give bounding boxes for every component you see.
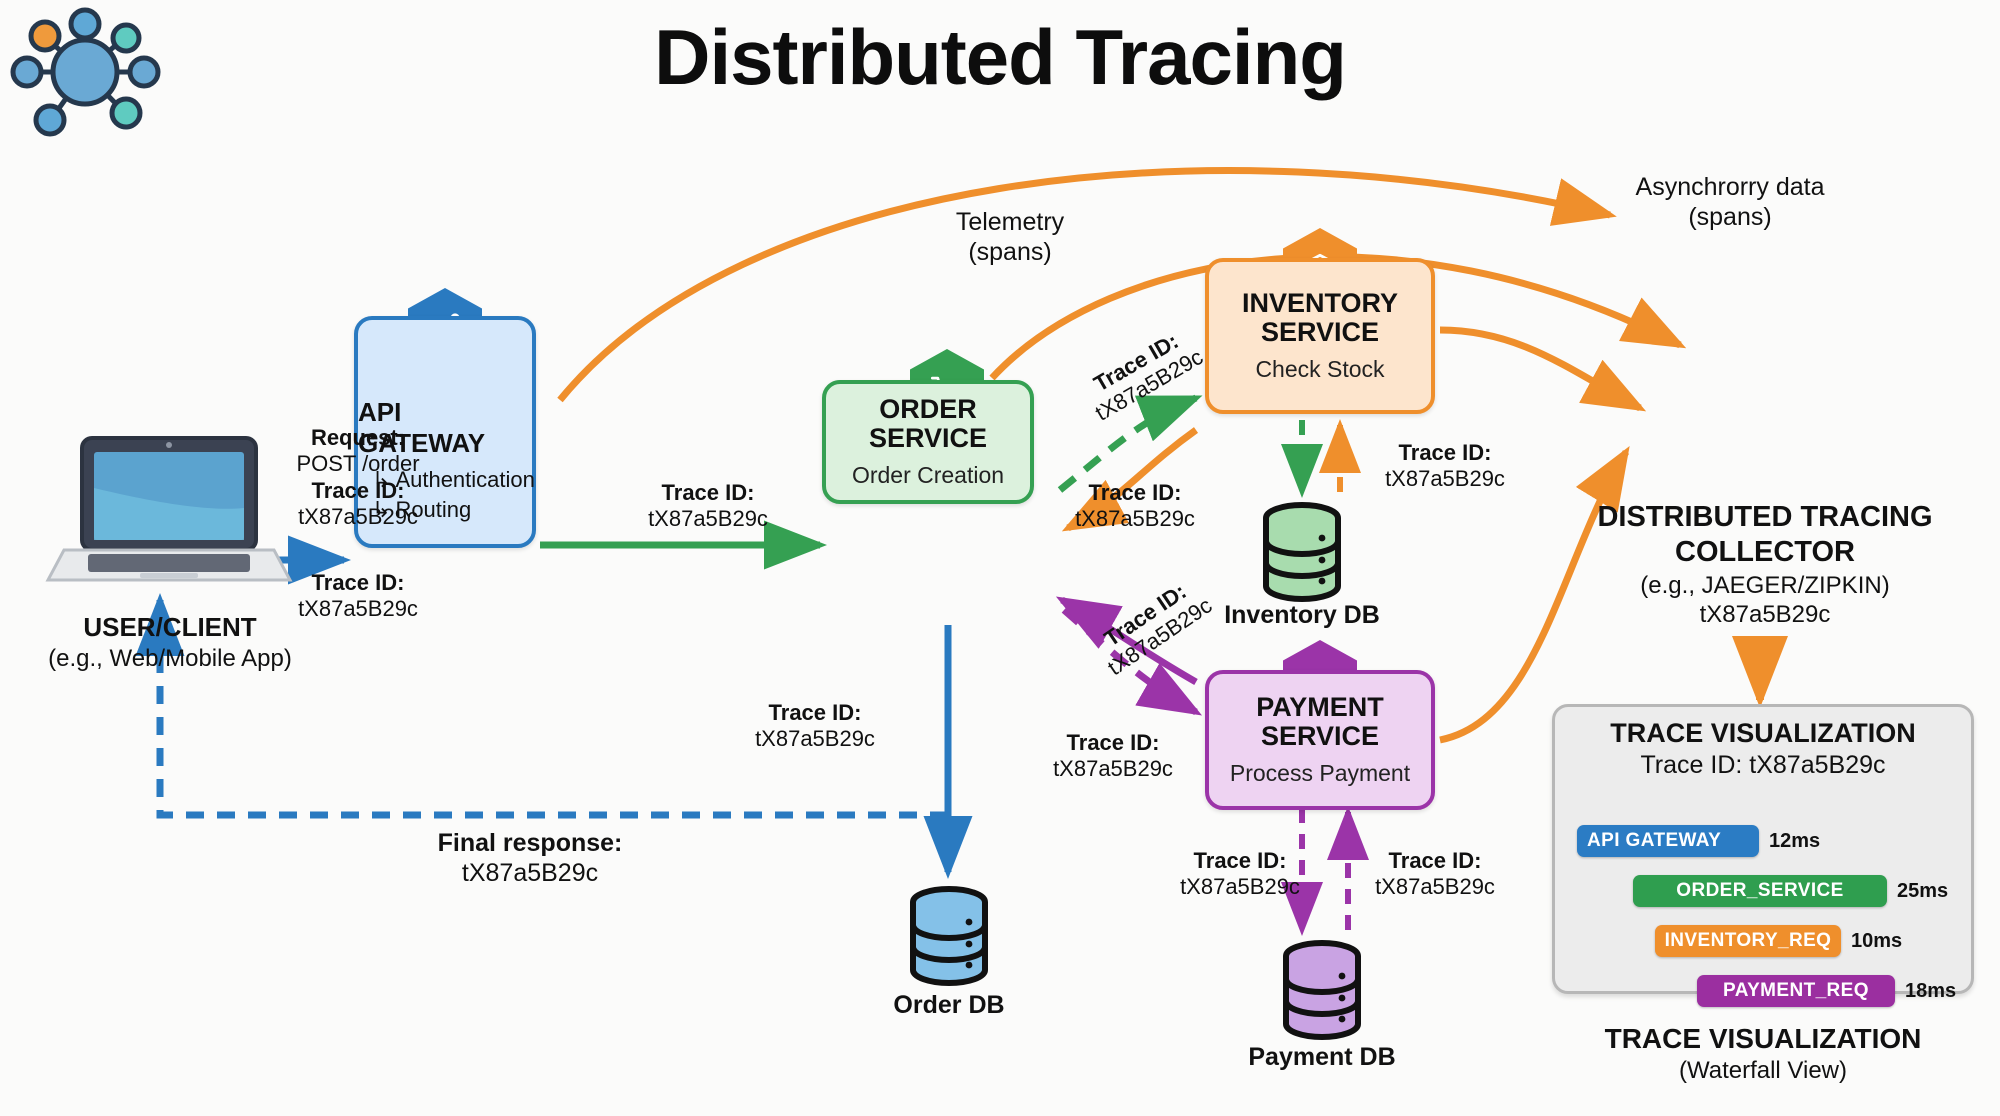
order-db-label: Order DB bbox=[849, 990, 1049, 1021]
label-gto-l1: Trace ID: bbox=[618, 480, 798, 506]
label-ito-l1: Trace ID: bbox=[1040, 480, 1230, 506]
span-duration-payment-req: 18ms bbox=[1905, 980, 1956, 1003]
edge-inventory-telemetry bbox=[1440, 330, 1640, 408]
label-pdbi-l2: tX87a5B29c bbox=[1345, 874, 1525, 900]
label-pdbo-l1: Trace ID: bbox=[1150, 848, 1330, 874]
span-row-api-gateway[interactable]: API GATEWAY 12ms bbox=[1577, 825, 1820, 857]
label-order-to-inventory-trace: Trace ID: tX87a5B29c bbox=[1056, 309, 1230, 440]
payment-service-label-l1: PAYMENT bbox=[1256, 692, 1384, 722]
label-ctg-l2: tX87a5B29c bbox=[268, 596, 448, 622]
label-idb-l1: Trace ID: bbox=[1350, 440, 1540, 466]
label-request: Request: POST /order Trace ID: tX87a5B29… bbox=[268, 425, 448, 531]
inventory-service-label-l1: INVENTORY bbox=[1242, 288, 1398, 318]
payment-db-label: Payment DB bbox=[1222, 1042, 1422, 1073]
order-service-node[interactable]: ORDER SERVICE Order Creation bbox=[822, 380, 1034, 504]
label-pdbi-l1: Trace ID: bbox=[1345, 848, 1525, 874]
label-async-l1: Asynchrorry data bbox=[1580, 172, 1880, 202]
label-odb-l2: tX87a5B29c bbox=[720, 726, 910, 752]
page-title: Distributed Tracing bbox=[0, 12, 2000, 103]
order-service-label-l1: ORDER bbox=[879, 394, 977, 424]
diagram-canvas: Distributed Tracing bbox=[0, 0, 2000, 1116]
trace-viz-caption-l2: (Waterfall View) bbox=[1552, 1056, 1974, 1085]
inventory-service-sub: Check Stock bbox=[1255, 356, 1384, 383]
collector-caption: DISTRIBUTED TRACING COLLECTOR (e.g., JAE… bbox=[1540, 500, 1990, 629]
laptop-icon bbox=[44, 430, 294, 590]
inventory-service-label-l2: SERVICE bbox=[1261, 317, 1379, 347]
label-inventory-to-order-trace: Trace ID: tX87a5B29c bbox=[1040, 480, 1230, 533]
label-request-l4: tX87a5B29c bbox=[268, 504, 448, 530]
span-row-inventory-req[interactable]: INVENTORY_REQ 10ms bbox=[1655, 925, 1902, 957]
order-service-label: ORDER SERVICE bbox=[869, 395, 987, 453]
label-payment-db-out-trace: Trace ID: tX87a5B29c bbox=[1150, 848, 1330, 901]
collector-sub: (e.g., JAEGER/ZIPKIN) bbox=[1540, 571, 1990, 600]
label-gto-l2: tX87a5B29c bbox=[618, 506, 798, 532]
label-async-data: Asynchrorry data (spans) bbox=[1580, 172, 1880, 232]
label-request-l1: Request: bbox=[268, 425, 448, 451]
label-async-l2: (spans) bbox=[1580, 202, 1880, 232]
span-bar-order-service: ORDER_SERVICE bbox=[1633, 875, 1887, 907]
label-payment-to-order-trace: Trace ID: tX87a5B29c bbox=[1018, 730, 1208, 783]
label-idb-l2: tX87a5B29c bbox=[1350, 466, 1540, 492]
label-client-to-gateway-trace: Trace ID: tX87a5B29c bbox=[268, 570, 448, 623]
label-inventory-db-trace: Trace ID: tX87a5B29c bbox=[1350, 440, 1540, 493]
inventory-service-label: INVENTORY SERVICE bbox=[1242, 289, 1398, 347]
span-duration-inventory-req: 10ms bbox=[1851, 930, 1902, 953]
label-odb-l1: Trace ID: bbox=[720, 700, 910, 726]
inventory-service-node[interactable]: INVENTORY SERVICE Check Stock bbox=[1205, 258, 1435, 414]
label-ctg-l1: Trace ID: bbox=[268, 570, 448, 596]
span-row-payment-req[interactable]: PAYMENT_REQ 18ms bbox=[1697, 975, 1956, 1007]
label-pto-l2: tX87a5B29c bbox=[1018, 756, 1208, 782]
span-bar-inventory-req: INVENTORY_REQ bbox=[1655, 925, 1841, 957]
label-final-l1: Final response: bbox=[380, 828, 680, 858]
label-pdbo-l2: tX87a5B29c bbox=[1150, 874, 1330, 900]
trace-viz-trace-id: Trace ID: tX87a5B29c bbox=[1555, 751, 1971, 780]
label-ito-l2: tX87a5B29c bbox=[1040, 506, 1230, 532]
span-bar-api-gateway: API GATEWAY bbox=[1577, 825, 1759, 857]
label-payment-db-in-trace: Trace ID: tX87a5B29c bbox=[1345, 848, 1525, 901]
payment-service-sub: Process Payment bbox=[1230, 760, 1410, 787]
label-telemetry-l2: (spans) bbox=[900, 237, 1120, 267]
edge-gateway-telemetry bbox=[560, 171, 1610, 400]
label-gateway-to-order-trace: Trace ID: tX87a5B29c bbox=[618, 480, 798, 533]
payment-service-label: PAYMENT SERVICE bbox=[1256, 693, 1384, 751]
trace-viz-caption: TRACE VISUALIZATION (Waterfall View) bbox=[1552, 1022, 1974, 1085]
order-service-label-l2: SERVICE bbox=[869, 423, 987, 453]
client-sub: (e.g., Web/Mobile App) bbox=[10, 644, 330, 673]
span-duration-order-service: 25ms bbox=[1897, 880, 1948, 903]
payment-service-label-l2: SERVICE bbox=[1261, 721, 1379, 751]
label-final-response: Final response: tX87a5B29c bbox=[380, 828, 680, 888]
label-request-l3: Trace ID: bbox=[268, 478, 448, 504]
label-telemetry: Telemetry (spans) bbox=[900, 207, 1120, 267]
payment-service-node[interactable]: PAYMENT SERVICE Process Payment bbox=[1205, 670, 1435, 810]
collector-label-l1: DISTRIBUTED TRACING bbox=[1540, 500, 1990, 535]
span-bar-payment-req: PAYMENT_REQ bbox=[1697, 975, 1895, 1007]
label-pto-l1: Trace ID: bbox=[1018, 730, 1208, 756]
label-final-l2: tX87a5B29c bbox=[380, 858, 680, 888]
order-service-sub: Order Creation bbox=[852, 462, 1004, 489]
inventory-db-icon bbox=[1258, 500, 1346, 604]
label-request-l2: POST /order bbox=[268, 451, 448, 477]
collector-trace-id: tX87a5B29c bbox=[1540, 600, 1990, 629]
collector-label-l2: COLLECTOR bbox=[1540, 535, 1990, 570]
span-row-order-service[interactable]: ORDER_SERVICE 25ms bbox=[1633, 875, 1948, 907]
order-db-icon bbox=[905, 884, 993, 988]
span-duration-api-gateway: 12ms bbox=[1769, 830, 1820, 853]
label-telemetry-l1: Telemetry bbox=[900, 207, 1120, 237]
label-order-db-trace: Trace ID: tX87a5B29c bbox=[720, 700, 910, 753]
trace-viz-heading: TRACE VISUALIZATION bbox=[1555, 718, 1971, 749]
trace-viz-caption-l1: TRACE VISUALIZATION bbox=[1552, 1022, 1974, 1056]
payment-db-icon bbox=[1278, 938, 1366, 1042]
trace-visualization-panel[interactable]: TRACE VISUALIZATION Trace ID: tX87a5B29c… bbox=[1552, 704, 1974, 994]
